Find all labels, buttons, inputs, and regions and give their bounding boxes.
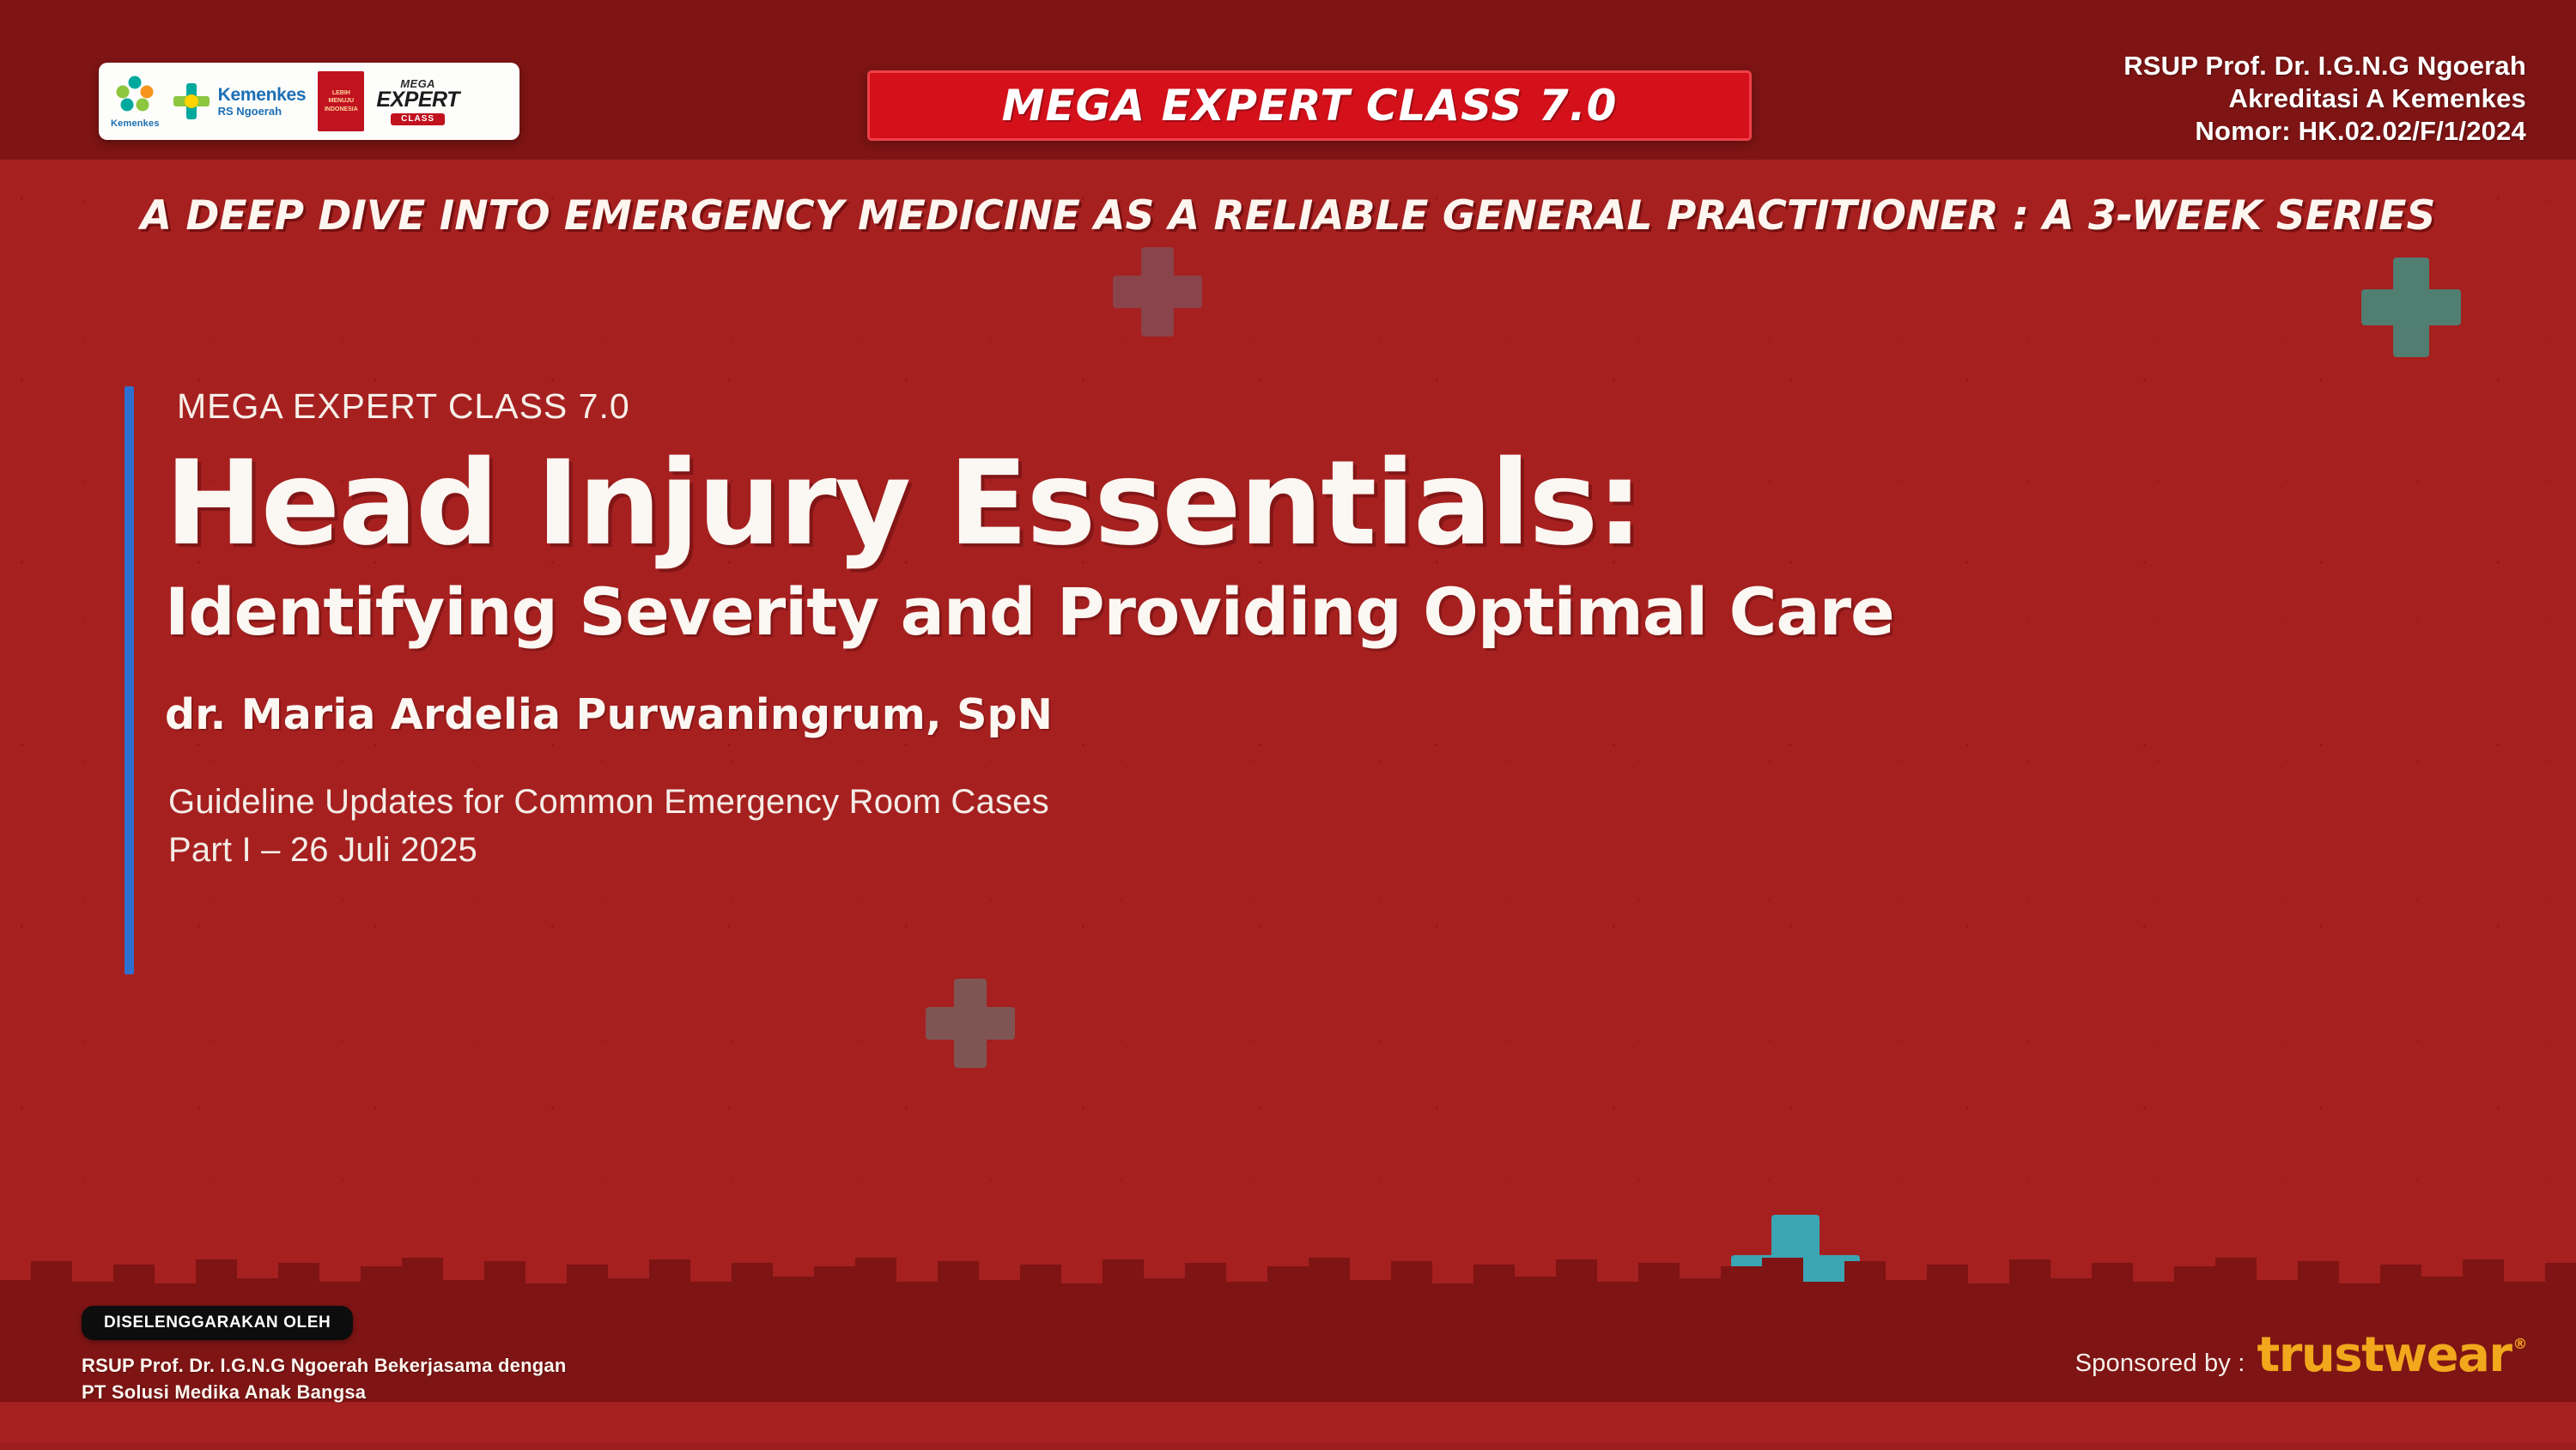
sponsor-trademark-icon: ® <box>2513 1336 2527 1353</box>
mec-logo-line2: EXPERT <box>376 89 459 111</box>
kemenkes-wordmark-line2: RS Ngoerah <box>218 106 307 117</box>
organizer-badge: DISELENGGARAKAN OLEH <box>82 1306 353 1340</box>
accreditation-line-2: Akreditasi A Kemenkes <box>2123 82 2526 115</box>
bottom-edge-line <box>0 1443 2576 1450</box>
accreditation-line-1: RSUP Prof. Dr. I.G.N.G Ngoerah <box>2123 50 2526 82</box>
cross-bar-vertical <box>1141 247 1174 337</box>
kemenkes-wordmark: Kemenkes RS Ngoerah <box>218 86 307 117</box>
page-subtitle: Identifying Severity and Providing Optim… <box>165 574 2271 649</box>
main-content-block: MEGA EXPERT CLASS 7.0 Head Injury Essent… <box>125 386 2271 874</box>
mega-expert-class-logo: MEGA EXPERT CLASS <box>376 78 459 125</box>
indonesia-maju-tile: LEBIH MENUJU INDONESIA <box>318 71 364 131</box>
tile-line-1: LEBIH <box>332 90 350 96</box>
slide-root: Kemenkes Kemenkes RS Ngoerah LEBIH MENUJ… <box>0 0 2576 1450</box>
kemenkes-wordmark-line1: Kemenkes <box>218 86 307 104</box>
kemenkes-emblem-icon: Kemenkes <box>111 75 160 129</box>
cross-mauve-top-icon <box>1113 247 1202 337</box>
cross-bar-vertical <box>2393 258 2429 357</box>
institution-logo-pill: Kemenkes Kemenkes RS Ngoerah LEBIH MENUJ… <box>99 63 519 140</box>
accreditation-block: RSUP Prof. Dr. I.G.N.G Ngoerah Akreditas… <box>2123 50 2526 147</box>
eyebrow-label: MEGA EXPERT CLASS 7.0 <box>177 386 2271 427</box>
mec-logo-line3: CLASS <box>391 113 445 125</box>
organizer-names: RSUP Prof. Dr. I.G.N.G Ngoerah Bekerjasa… <box>82 1352 566 1405</box>
cross-bar-vertical <box>954 979 987 1068</box>
organizer-line-1: RSUP Prof. Dr. I.G.N.G Ngoerah Bekerjasa… <box>82 1352 566 1379</box>
sponsor-brand-trustwear: trustwear® <box>2257 1327 2524 1383</box>
session-description: Guideline Updates for Common Emergency R… <box>168 779 2271 873</box>
cross-gray-mid-icon <box>926 979 1015 1068</box>
organizer-line-2: PT Solusi Medika Anak Bangsa <box>82 1379 566 1405</box>
rs-ngoerah-emblem-icon <box>172 80 211 123</box>
speaker-name: dr. Maria Ardelia Purwaningrum, SpN <box>165 690 2271 739</box>
tile-line-3: INDONESIA <box>325 106 358 112</box>
sponsor-brand-text: trustwear <box>2257 1327 2512 1383</box>
sponsor-block: Sponsored by : trustwear® <box>2075 1327 2524 1383</box>
accreditation-line-3: Nomor: HK.02.02/F/1/2024 <box>2123 115 2526 148</box>
session-description-line-2: Part I – 26 Juli 2025 <box>168 827 2271 874</box>
event-title-banner: MEGA EXPERT CLASS 7.0 <box>867 70 1752 141</box>
series-tagline: A DEEP DIVE INTO EMERGENCY MEDICINE AS A… <box>0 192 2576 240</box>
event-title-banner-text: MEGA EXPERT CLASS 7.0 <box>1002 81 1618 130</box>
blue-accent-bar <box>125 386 134 974</box>
page-title: Head Injury Essentials: <box>165 446 2271 562</box>
cross-teal-topright-icon <box>2361 258 2461 357</box>
tile-line-2: MENUJU <box>329 98 355 104</box>
organizer-block: DISELENGGARAKAN OLEH RSUP Prof. Dr. I.G.… <box>82 1306 566 1405</box>
sponsor-label: Sponsored by : <box>2075 1350 2245 1378</box>
kemenkes-caption: Kemenkes <box>111 118 160 129</box>
session-description-line-1: Guideline Updates for Common Emergency R… <box>168 779 2271 826</box>
